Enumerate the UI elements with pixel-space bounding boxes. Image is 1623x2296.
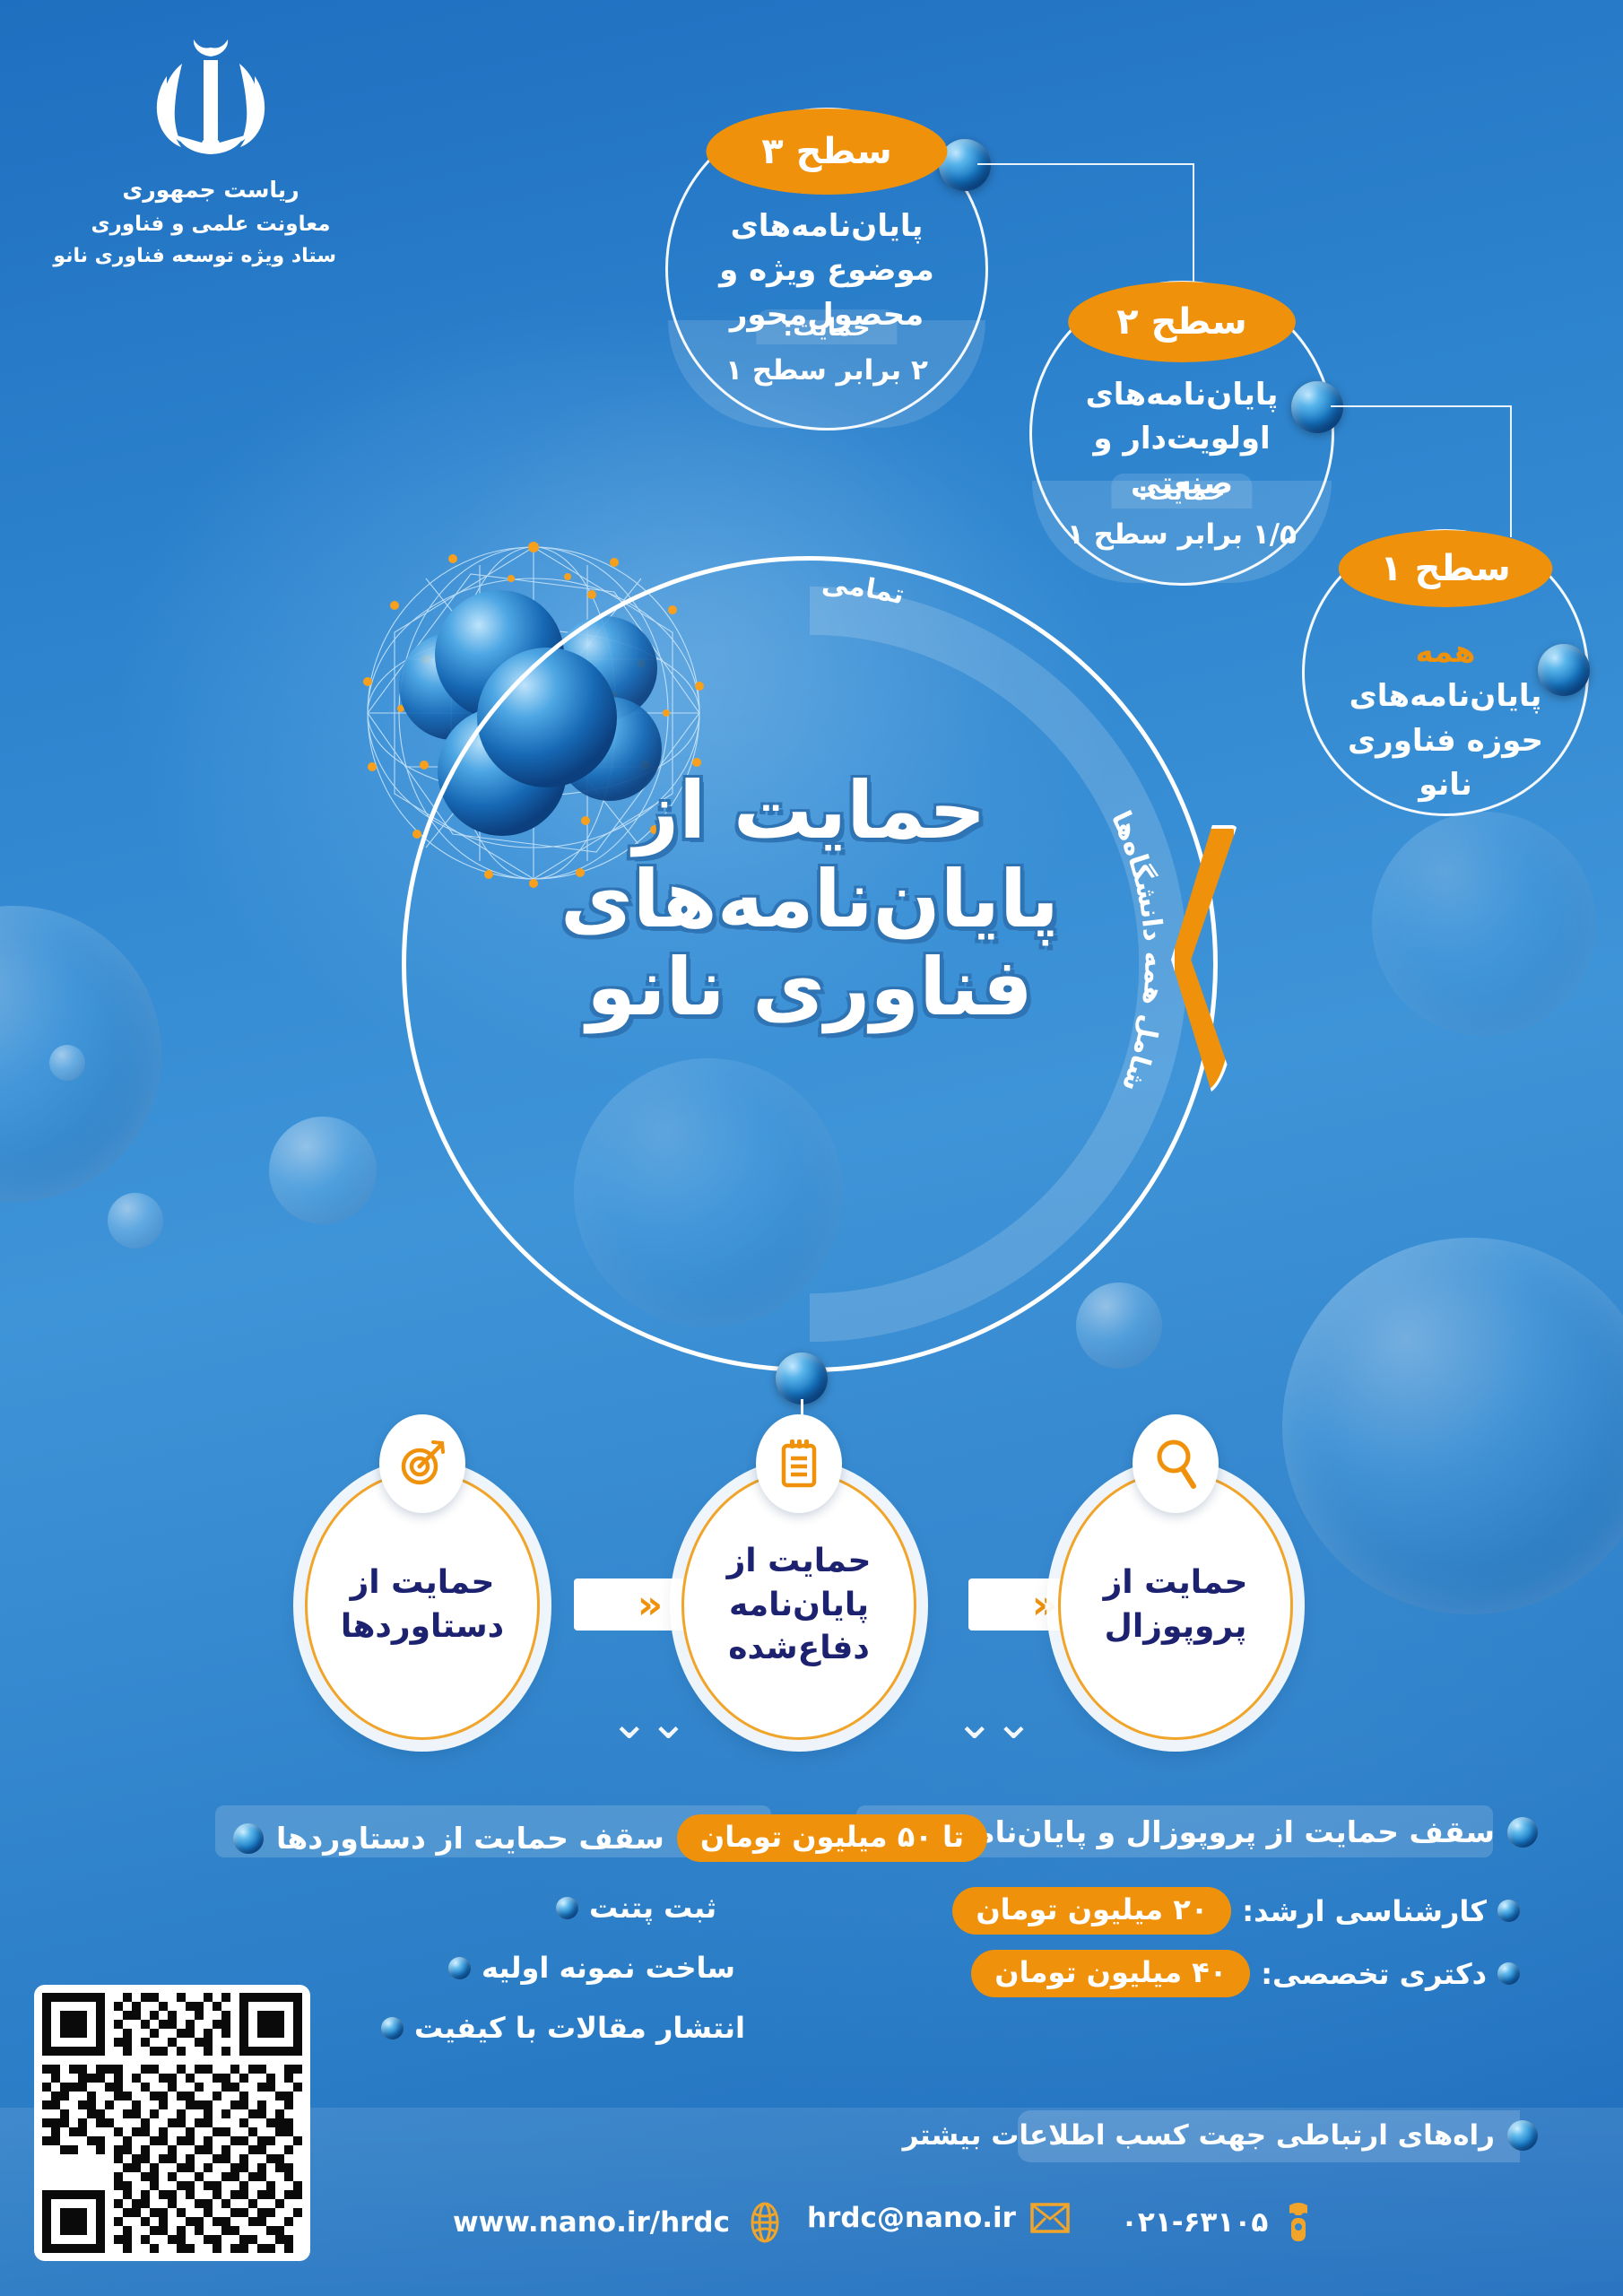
- contact-website[interactable]: www.nano.ir/hrdc: [453, 2202, 785, 2243]
- magnifier-icon-badge: [1133, 1414, 1219, 1513]
- support-left-item-3-text: انتشار مقالات با کیفیت: [414, 2011, 745, 2045]
- support-right-row-phd: دکتری تخصصی: ۴۰ میلیون تومان: [971, 1950, 1520, 1997]
- decorative-bubble: [1372, 812, 1596, 1036]
- contact-email-text: hrdc@nano.ir: [807, 2202, 1016, 2234]
- process-circle-proposal[interactable]: حمایت از پروپوزال: [1058, 1471, 1293, 1740]
- level-2-circle[interactable]: سطح ۲ پایان‌نامه‌های اولویت‌دار و صنعتی …: [1029, 281, 1334, 586]
- support-right-label-masters: کارشناسی ارشد:: [1242, 1894, 1487, 1928]
- level-2-badge: سطح ۲: [1068, 282, 1296, 362]
- level-1-title: همه پایان‌نامه‌های حوزه فناوری نانو: [1322, 631, 1569, 807]
- level-1-badge: سطح ۱: [1339, 530, 1553, 607]
- qr-code-icon: [42, 1993, 302, 2253]
- bullet-orb-icon: [556, 1897, 578, 1919]
- bullet-orb-icon: [1507, 1817, 1538, 1848]
- level-3-support-value: ۲ برابر سطح ۱: [668, 354, 985, 387]
- logo-line-1: ریاست جمهوری: [85, 173, 336, 207]
- decorative-bubble: [49, 1045, 85, 1081]
- clipboard-icon-badge: [756, 1414, 842, 1513]
- bullet-orb-icon: [448, 1957, 471, 1979]
- contact-website-text: www.nano.ir/hrdc: [453, 2206, 730, 2239]
- title-line-1: حمایت از: [402, 767, 1218, 856]
- support-left-item-1-text: ثبت پتنت: [589, 1891, 716, 1925]
- footer-heading-text: راه‌های ارتباطی جهت کسب اطلاعات بیشتر: [903, 2119, 1495, 2152]
- level-1-title-highlight: همه: [1416, 634, 1476, 670]
- phone-icon: [1282, 2202, 1315, 2243]
- support-right-value-phd: ۴۰ میلیون تومان: [971, 1950, 1250, 1997]
- decorative-bubble: [269, 1117, 377, 1224]
- support-right-value-masters: ۲۰ میلیون تومان: [952, 1887, 1231, 1935]
- down-chevron-icon: ⌄⌄: [955, 1700, 1033, 1746]
- bullet-orb-icon: [1497, 1900, 1520, 1922]
- title-line-2: پایان‌نامه‌های: [402, 856, 1218, 944]
- bullet-orb-icon: [1507, 2120, 1538, 2151]
- support-right-label-phd: دکتری تخصصی:: [1261, 1957, 1487, 1991]
- contact-phone[interactable]: ۰۲۱-۶۳۱۰۵: [1121, 2202, 1315, 2243]
- contact-email[interactable]: hrdc@nano.ir: [807, 2202, 1070, 2234]
- level2-to-level1-connector: [1331, 405, 1512, 537]
- support-left-item-2-text: ساخت نمونه اولیه: [482, 1951, 735, 1985]
- process-circle-defended-thesis[interactable]: حمایت از پایان‌نامه دفاع‌شده: [681, 1471, 916, 1740]
- level-3-circle[interactable]: سطح ۳ پایان‌نامه‌های موضوع ویژه و محصول‌…: [665, 108, 988, 430]
- ring-bottom-orb: [776, 1352, 828, 1405]
- target-icon-badge: [379, 1414, 465, 1513]
- support-left-item-2: ساخت نمونه اولیه: [448, 1951, 735, 1985]
- qr-code[interactable]: [34, 1985, 310, 2261]
- contact-phone-text: ۰۲۱-۶۳۱۰۵: [1121, 2206, 1268, 2239]
- page-title: حمایت از پایان‌نامه‌های فناوری نانو: [402, 767, 1218, 1032]
- support-left-pill: تا ۵۰ میلیون تومان: [677, 1814, 987, 1862]
- bullet-orb-icon: [381, 2017, 404, 2039]
- level-2-support-label: حمایت:: [1111, 474, 1252, 509]
- clipboard-icon: [777, 1437, 820, 1491]
- process-label-proposal: حمایت از پروپوزال: [1061, 1561, 1290, 1648]
- down-chevron-icon: ⌄⌄: [610, 1700, 688, 1746]
- iran-emblem-icon: [128, 31, 294, 166]
- bullet-orb-icon: [1497, 1962, 1520, 1985]
- level-3-badge: سطح ۳: [706, 109, 947, 195]
- level3-to-level2-connector: [977, 163, 1194, 295]
- level-1-node-orb: [1538, 644, 1590, 696]
- bullet-orb-icon: [233, 1823, 264, 1854]
- globe-icon: [744, 2202, 785, 2243]
- main-circle-ring: تمامی پایان‌نامه‌های حوزه فناوری نانو می…: [402, 556, 1218, 1372]
- support-left-heading-text: سقف حمایت از دستاوردها: [276, 1821, 664, 1856]
- envelope-icon: [1030, 2202, 1070, 2234]
- support-left-item-1: ثبت پتنت: [556, 1891, 716, 1925]
- support-left-heading: سقف حمایت از دستاوردها تا ۵۰ میلیون توما…: [233, 1814, 987, 1862]
- decorative-bubble: [0, 906, 161, 1202]
- title-line-3: فناوری نانو: [402, 944, 1218, 1032]
- level-3-support-label: حمایت:: [756, 309, 897, 344]
- process-circle-achievements[interactable]: حمایت از دستاوردها: [305, 1471, 540, 1740]
- logo-line-2: معاونت علمی و فناوری: [85, 209, 336, 240]
- organization-logo: ریاست جمهوری معاونت علمی و فناوری ستاد و…: [85, 31, 336, 271]
- target-icon: [397, 1439, 447, 1489]
- process-chevron-icon: «: [638, 1582, 663, 1628]
- process-label-defended-thesis: حمایت از پایان‌نامه دفاع‌شده: [684, 1540, 914, 1671]
- magnifier-icon: [1152, 1437, 1199, 1491]
- support-left-item-3: انتشار مقالات با کیفیت: [381, 2011, 745, 2045]
- process-chevron-icon: «: [1032, 1582, 1057, 1628]
- decorative-bubble: [1282, 1238, 1623, 1614]
- footer-heading: راه‌های ارتباطی جهت کسب اطلاعات بیشتر: [903, 2119, 1538, 2152]
- process-label-achievements: حمایت از دستاوردها: [308, 1561, 537, 1648]
- level-1-title-rest: پایان‌نامه‌های حوزه فناوری نانو: [1348, 678, 1543, 803]
- logo-line-3: ستاد ویژه توسعه فناوری نانو: [85, 241, 336, 271]
- support-right-row-masters: کارشناسی ارشد: ۲۰ میلیون تومان: [952, 1887, 1520, 1935]
- decorative-bubble: [108, 1193, 163, 1248]
- poster-canvas: ریاست جمهوری معاونت علمی و فناوری ستاد و…: [0, 0, 1623, 2296]
